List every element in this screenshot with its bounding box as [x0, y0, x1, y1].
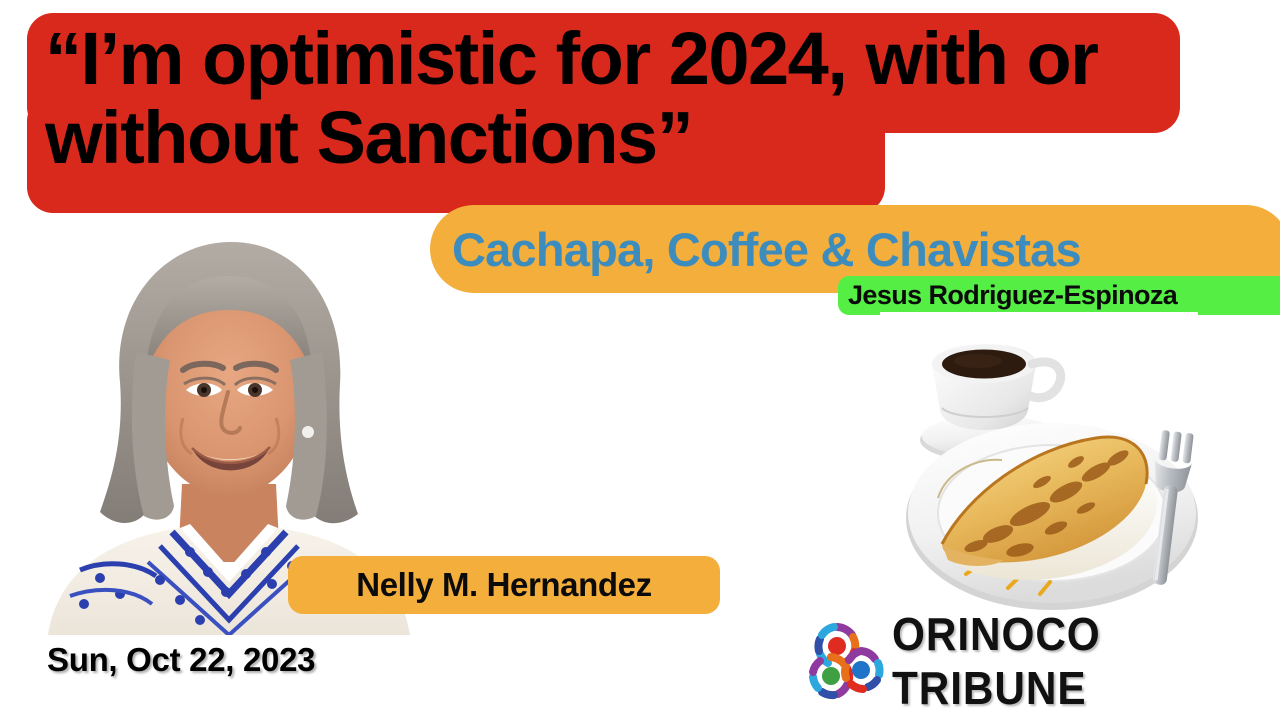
orinoco-tribune-logo-text: ORINOCO TRIBUNE	[892, 622, 1245, 700]
headline-banner: “I’m optimistic for 2024, with or withou…	[0, 0, 1280, 230]
orinoco-tribune-logo-icon	[806, 622, 890, 700]
headline-text: “I’m optimistic for 2024, with or withou…	[27, 13, 1197, 177]
subject-name-text: Nelly M. Hernandez	[288, 556, 720, 614]
poster-canvas: “I’m optimistic for 2024, with or withou…	[0, 0, 1280, 720]
cachapa-coffee-photo	[880, 312, 1198, 630]
orinoco-tribune-logo: ORINOCO TRIBUNE	[806, 618, 1276, 704]
author-name-text: Jesus Rodriguez-Espinoza	[848, 276, 1280, 315]
publication-date: Sun, Oct 22, 2023	[47, 641, 315, 679]
